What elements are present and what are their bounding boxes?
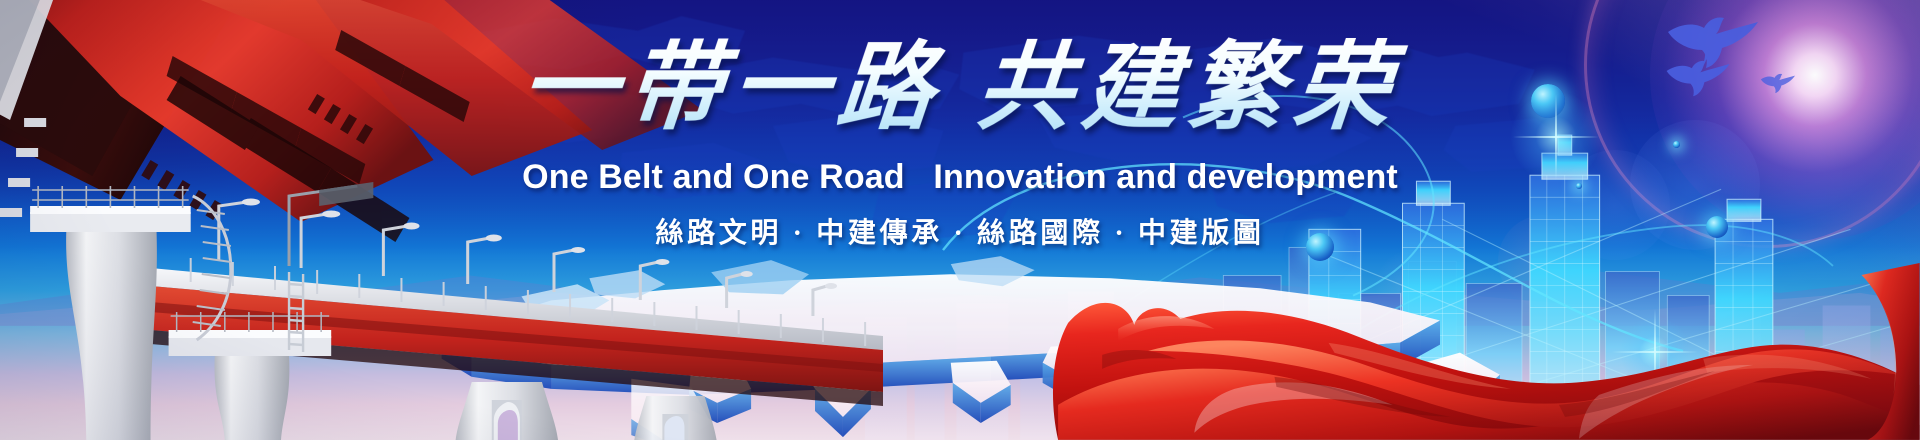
glow-node-small [1673,141,1680,148]
glow-node [1706,216,1728,238]
glow-node-small [1576,183,1582,189]
belt-and-road-banner: 一带一路共建繁荣 One Belt and One Road Innovatio… [0,0,1920,440]
red-ribbon-icon [998,255,1920,440]
bridge-icon [0,0,883,440]
